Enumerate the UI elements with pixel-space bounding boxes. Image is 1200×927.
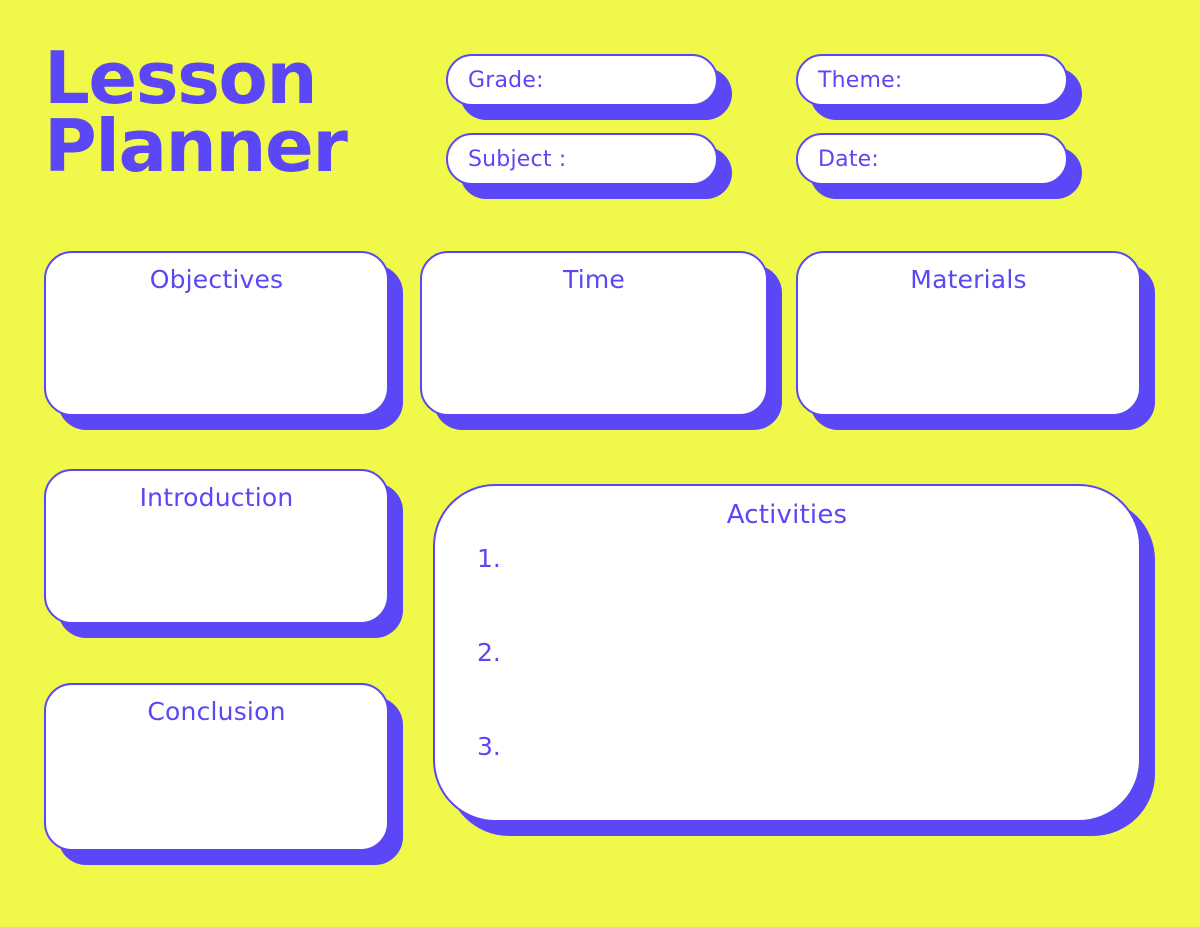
time-card[interactable]: Time <box>420 251 768 416</box>
theme-field-label: Theme: <box>818 68 903 93</box>
activity-item-3[interactable]: 3. <box>477 734 1099 828</box>
objectives-card[interactable]: Objectives <box>44 251 389 416</box>
conclusion-card[interactable]: Conclusion <box>44 683 389 851</box>
materials-card[interactable]: Materials <box>796 251 1141 416</box>
grade-field[interactable]: Grade: <box>446 54 718 106</box>
date-field[interactable]: Date: <box>796 133 1068 185</box>
activities-card-title: Activities <box>435 500 1139 530</box>
lesson-planner-page: Lesson Planner Grade: Subject : Theme: D… <box>0 0 1200 927</box>
theme-field[interactable]: Theme: <box>796 54 1068 106</box>
time-card-title: Time <box>422 265 766 294</box>
conclusion-card-title: Conclusion <box>46 697 387 726</box>
introduction-card-title: Introduction <box>46 483 387 512</box>
date-field-label: Date: <box>818 147 879 172</box>
subject-field-label: Subject : <box>468 147 566 172</box>
subject-field[interactable]: Subject : <box>446 133 718 185</box>
page-title: Lesson Planner <box>44 44 424 181</box>
header: Lesson Planner Grade: Subject : Theme: D… <box>0 0 1200 230</box>
grade-field-label: Grade: <box>468 68 544 93</box>
objectives-card-title: Objectives <box>46 265 387 294</box>
activities-card[interactable]: Activities 1. 2. 3. <box>433 484 1141 822</box>
introduction-card[interactable]: Introduction <box>44 469 389 624</box>
materials-card-title: Materials <box>798 265 1139 294</box>
activity-item-2[interactable]: 2. <box>477 640 1099 734</box>
activities-list: 1. 2. 3. <box>477 546 1099 828</box>
activity-item-1[interactable]: 1. <box>477 546 1099 640</box>
